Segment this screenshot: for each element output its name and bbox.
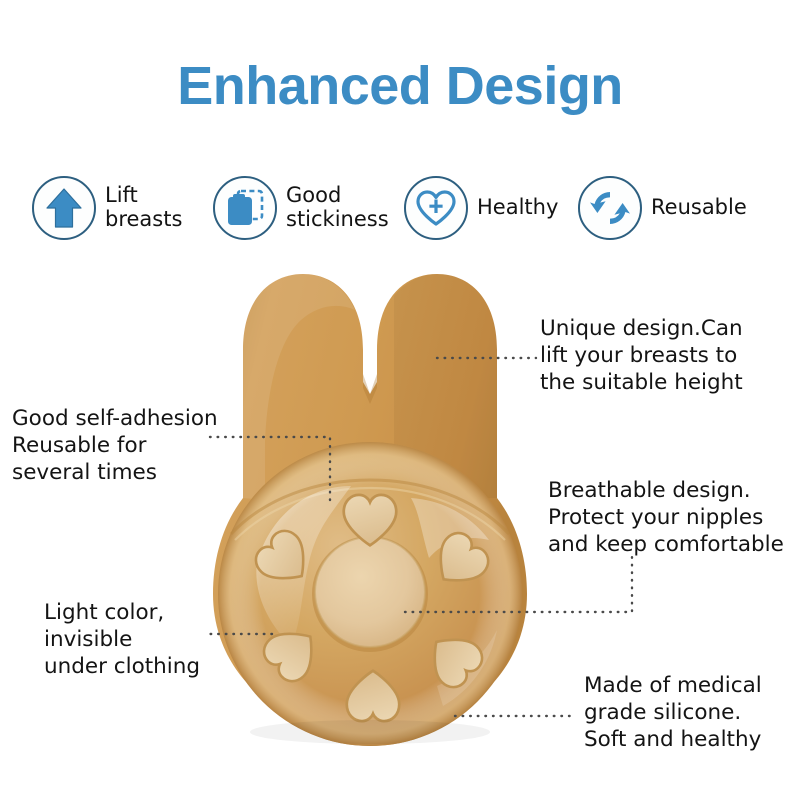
infographic-canvas: Enhanced Design Lift breasts Good sticki… <box>0 0 800 800</box>
feature-badge-lift-breasts[interactable]: Lift breasts <box>32 166 182 250</box>
feature-badge-healthy[interactable]: Healthy <box>404 166 558 250</box>
product-center-circle <box>312 536 428 652</box>
feature-icon-circle <box>404 176 468 240</box>
annotation-unique-design: Unique design.Can lift your breasts to t… <box>540 316 796 397</box>
feature-label: Lift breasts <box>105 184 182 231</box>
recycle-arrows-icon <box>588 186 632 230</box>
product-image-silicone-nipple-cover <box>205 262 535 762</box>
feature-icon-circle <box>213 176 277 240</box>
annotation-good-self-adhesion: Good self-adhesion Reusable for several … <box>12 406 242 487</box>
page-title: Enhanced Design <box>0 58 800 115</box>
feature-label: Reusable <box>651 196 747 220</box>
up-arrow-icon <box>44 186 84 230</box>
feature-icon-circle <box>578 176 642 240</box>
heart-plus-icon <box>414 188 458 228</box>
product-illustration <box>205 262 535 762</box>
annotation-breathable-design: Breathable design. Protect your nipples … <box>548 478 800 559</box>
annotation-medical-grade: Made of medical grade silicone. Soft and… <box>584 673 800 754</box>
feature-badge-good-stickiness[interactable]: Good stickiness <box>213 166 389 250</box>
stacked-sheets-icon <box>224 187 266 229</box>
feature-label: Healthy <box>477 196 558 220</box>
feature-badge-reusable[interactable]: Reusable <box>578 166 747 250</box>
feature-label: Good stickiness <box>286 184 389 231</box>
annotation-light-color: Light color, invisible under clothing <box>44 600 242 681</box>
feature-badge-row: Lift breasts Good stickiness Healthy <box>0 166 800 250</box>
feature-icon-circle <box>32 176 96 240</box>
